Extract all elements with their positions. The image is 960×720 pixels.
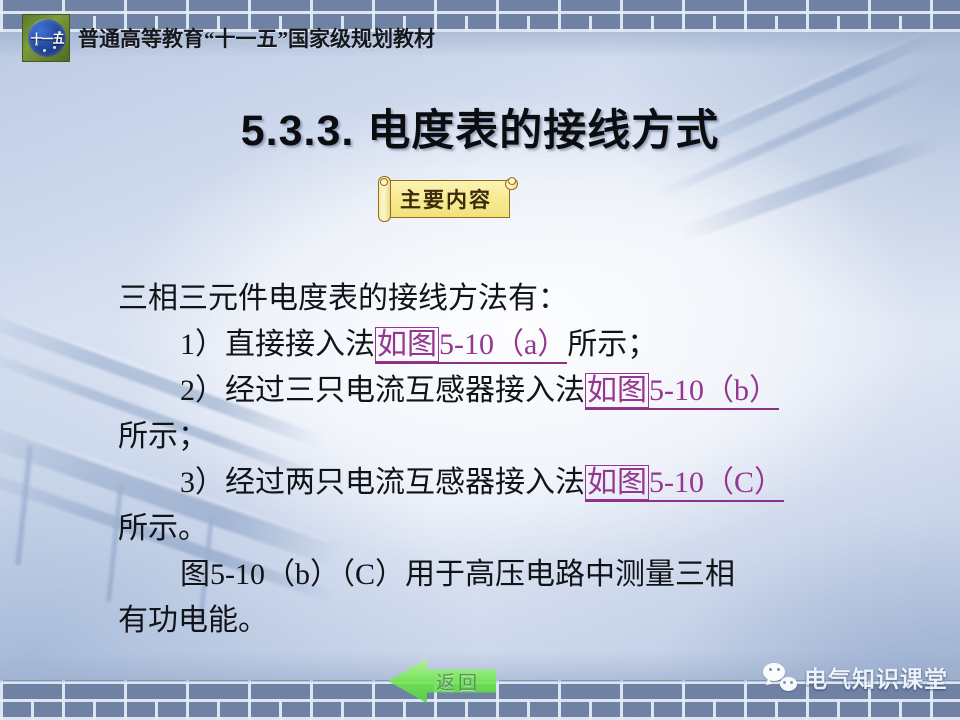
body-line-8: 有功电能。 xyxy=(118,598,908,644)
figure-link-a-boxed: 如图 xyxy=(375,327,439,362)
figure-link-c-rest: 5-10（C） xyxy=(649,466,784,499)
watermark: 电气知识课堂 xyxy=(763,660,948,694)
body-line-2: 1）直接接入法如图5-10（a）所示； xyxy=(118,322,908,368)
banner-label: 主要内容 xyxy=(382,180,510,218)
body-line-6: 所示。 xyxy=(118,506,908,552)
body-line-7: 图5-10（b）（C）用于高压电路中测量三相 xyxy=(118,552,908,598)
figure-link-5-10-c[interactable]: 如图5-10（C） xyxy=(585,466,784,502)
body-line-3: 2）经过三只电流互感器接入法如图5-10（b） xyxy=(118,368,908,414)
body-line-4-text: 所示； xyxy=(118,420,208,453)
return-button-label: 返回 xyxy=(426,669,490,693)
book-series-emblem-icon: 十一五 xyxy=(22,14,70,62)
figure-link-b-rest: 5-10（b） xyxy=(649,374,779,407)
header-title: 普通高等教育“十一五”国家级规划教材 xyxy=(78,23,435,53)
body-line-1: 三相三元件电度表的接线方法有： xyxy=(118,276,908,322)
watermark-label: 电气知识课堂 xyxy=(804,660,948,694)
body-line-2-suffix: 所示； xyxy=(567,328,657,361)
slide-body: 三相三元件电度表的接线方法有： 1）直接接入法如图5-10（a）所示； 2）经过… xyxy=(118,276,908,644)
wechat-icon xyxy=(763,663,797,691)
figure-link-a-rest: 5-10（a） xyxy=(439,328,567,361)
body-line-8-text: 有功电能。 xyxy=(118,604,268,637)
figure-link-5-10-a[interactable]: 如图5-10（a） xyxy=(375,328,567,364)
return-button[interactable]: 返回 xyxy=(388,657,496,705)
body-line-1-text: 三相三元件电度表的接线方法有： xyxy=(118,282,568,315)
body-line-2-prefix: 1）直接接入法 xyxy=(180,328,375,361)
body-line-4: 所示； xyxy=(118,414,908,460)
figure-link-5-10-b[interactable]: 如图5-10（b） xyxy=(585,374,779,410)
slide-title: 5.3.3. 电度表的接线方式 xyxy=(0,96,960,158)
figure-link-b-boxed: 如图 xyxy=(585,373,649,408)
body-line-5: 3）经过两只电流互感器接入法如图5-10（C） xyxy=(118,460,908,506)
book-series-emblem-label: 十一五 xyxy=(28,30,66,47)
body-line-6-text: 所示。 xyxy=(118,512,208,545)
body-line-7-text: 图5-10（b）（C）用于高压电路中测量三相 xyxy=(180,558,735,591)
main-content-banner: 主要内容 xyxy=(371,176,521,223)
header: 十一五 普通高等教育“十一五”国家级规划教材 xyxy=(22,14,435,62)
figure-link-c-boxed: 如图 xyxy=(585,465,649,500)
body-line-5-prefix: 3）经过两只电流互感器接入法 xyxy=(180,466,585,499)
presentation-slide: 十一五 普通高等教育“十一五”国家级规划教材 5.3.3. 电度表的接线方式 主… xyxy=(0,0,960,720)
body-line-3-prefix: 2）经过三只电流互感器接入法 xyxy=(180,374,585,407)
